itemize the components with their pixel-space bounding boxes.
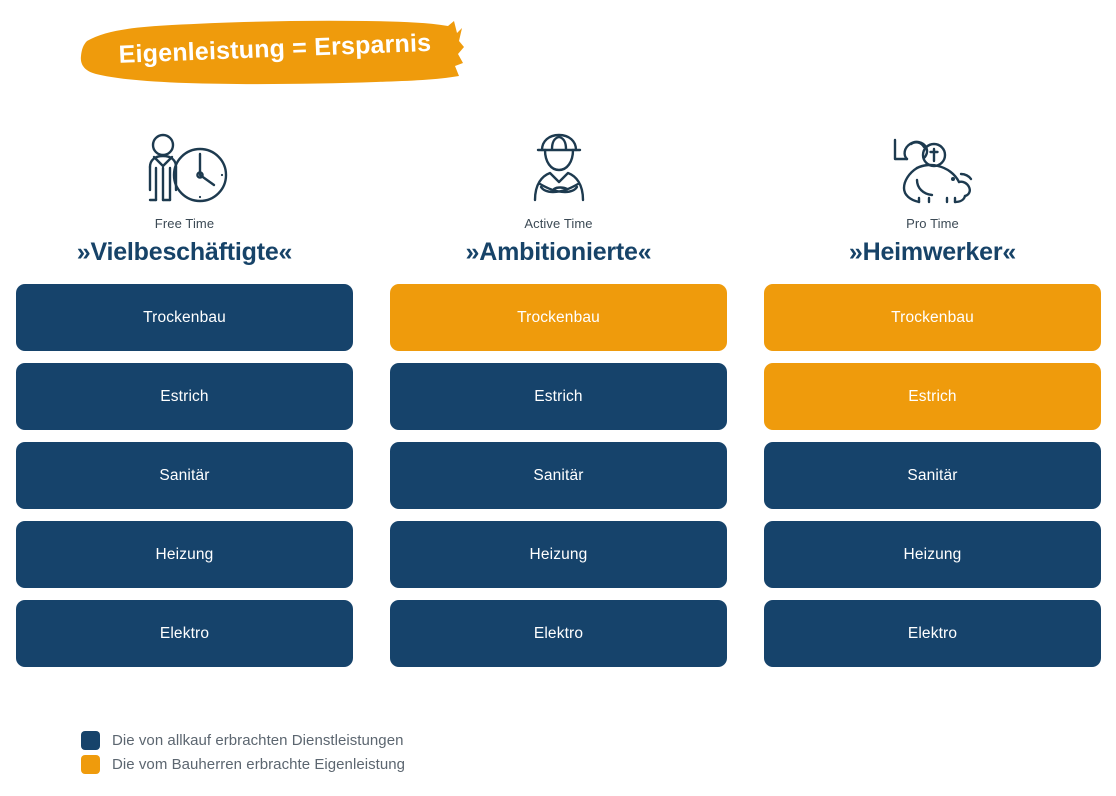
banner-title: Eigenleistung = Ersparnis	[75, 7, 469, 94]
persona-column-heimwerker: Pro Time »Heimwerker« Trockenbau Estrich…	[764, 120, 1101, 667]
persona-columns: Free Time »Vielbeschäftigte« Trockenbau …	[16, 120, 1101, 667]
service-bar-heizung[interactable]: Heizung	[390, 521, 727, 588]
legend: Die von allkauf erbrachten Dienstleistun…	[81, 731, 405, 774]
service-bar-list: Trockenbau Estrich Sanitär Heizung Elekt…	[390, 284, 727, 667]
service-bar-estrich[interactable]: Estrich	[390, 363, 727, 430]
service-bar-trockenbau[interactable]: Trockenbau	[16, 284, 353, 351]
persona-sub-label: Pro Time	[906, 216, 959, 231]
service-bar-list: Trockenbau Estrich Sanitär Heizung Elekt…	[764, 284, 1101, 667]
headline-banner: Eigenleistung = Ersparnis	[76, 14, 468, 86]
persona-sub-label: Free Time	[155, 216, 214, 231]
service-bar-sanitaer[interactable]: Sanitär	[764, 442, 1101, 509]
service-bar-trockenbau[interactable]: Trockenbau	[390, 284, 727, 351]
person-with-clock-icon	[138, 120, 232, 204]
legend-label: Die von allkauf erbrachten Dienstleistun…	[112, 732, 404, 749]
service-bar-estrich[interactable]: Estrich	[16, 363, 353, 430]
service-bar-heizung[interactable]: Heizung	[16, 521, 353, 588]
service-bar-heizung[interactable]: Heizung	[764, 521, 1101, 588]
persona-title: »Vielbeschäftigte«	[77, 238, 292, 267]
legend-item-allkauf: Die von allkauf erbrachten Dienstleistun…	[81, 731, 405, 750]
legend-swatch-navy	[81, 731, 100, 750]
service-bar-elektro[interactable]: Elektro	[16, 600, 353, 667]
persona-title: »Ambitionierte«	[466, 238, 652, 267]
service-bar-sanitaer[interactable]: Sanitär	[16, 442, 353, 509]
service-bar-list: Trockenbau Estrich Sanitär Heizung Elekt…	[16, 284, 353, 667]
service-bar-sanitaer[interactable]: Sanitär	[390, 442, 727, 509]
service-bar-trockenbau[interactable]: Trockenbau	[764, 284, 1101, 351]
service-bar-estrich[interactable]: Estrich	[764, 363, 1101, 430]
legend-item-eigenleistung: Die vom Bauherren erbrachte Eigenleistun…	[81, 755, 405, 774]
legend-swatch-orange	[81, 755, 100, 774]
service-bar-elektro[interactable]: Elektro	[764, 600, 1101, 667]
worker-hardhat-crossed-arms-icon	[521, 120, 597, 204]
persona-title: »Heimwerker«	[849, 238, 1016, 267]
persona-sub-label: Active Time	[524, 216, 592, 231]
infographic-root: Eigenleistung = Ersparnis	[0, 0, 1116, 796]
service-bar-elektro[interactable]: Elektro	[390, 600, 727, 667]
persona-column-vielbeschaeftigte: Free Time »Vielbeschäftigte« Trockenbau …	[16, 120, 353, 667]
persona-column-ambitionierte: Active Time »Ambitionierte« Trockenbau E…	[390, 120, 727, 667]
legend-label: Die vom Bauherren erbrachte Eigenleistun…	[112, 756, 405, 773]
piggy-bank-coin-icon	[887, 120, 979, 204]
